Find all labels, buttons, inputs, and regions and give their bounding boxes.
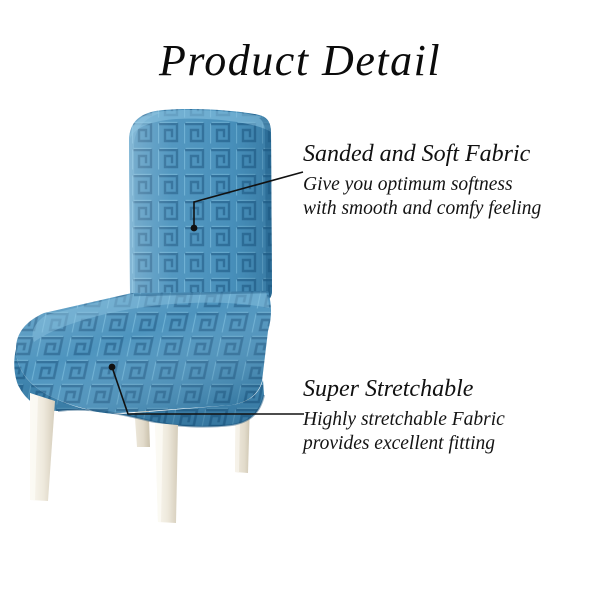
chair-leg-front-left — [30, 393, 55, 501]
callout-body: Give you optimum softness with smooth an… — [303, 173, 541, 221]
chair-leg-front-center — [155, 423, 178, 523]
callout-super-stretchable: Super Stretchable Highly stretchable Fab… — [303, 375, 505, 456]
callout-body: Highly stretchable Fabric provides excel… — [303, 408, 505, 456]
chair-back — [129, 109, 272, 309]
callout-title: Super Stretchable — [303, 375, 505, 403]
callout-body-line: Highly stretchable Fabric — [303, 408, 505, 432]
product-detail-image: Product Detail — [0, 0, 600, 600]
chair-illustration — [0, 95, 300, 545]
callout-sanded-and-soft-fabric: Sanded and Soft Fabric Give you optimum … — [303, 140, 541, 221]
chair-seat — [16, 291, 271, 413]
callout-title: Sanded and Soft Fabric — [303, 140, 541, 168]
callout-body-line: provides excellent fitting — [303, 432, 505, 456]
callout-body-line: Give you optimum softness — [303, 173, 541, 197]
callout-body-line: with smooth and comfy feeling — [303, 197, 541, 221]
page-title: Product Detail — [0, 36, 600, 86]
